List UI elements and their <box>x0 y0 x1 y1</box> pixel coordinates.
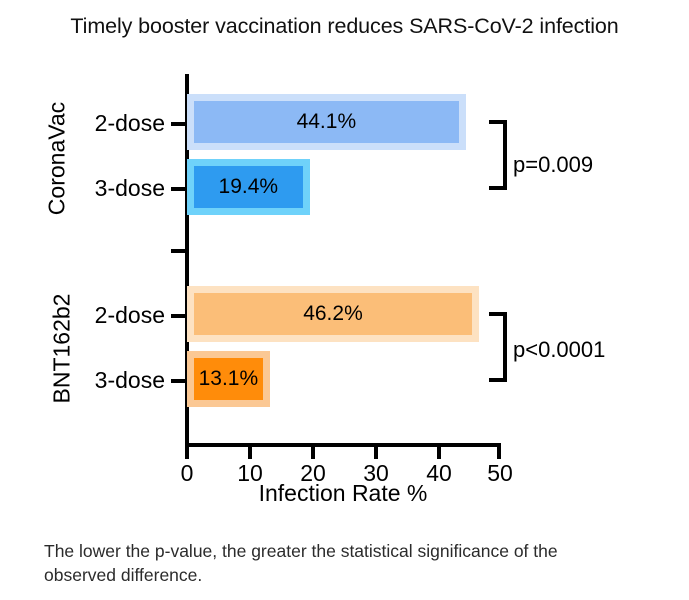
significance-bracket-coronavac <box>489 120 507 190</box>
x-tick-50 <box>497 446 501 459</box>
bar-value-coronavac-2dose: 44.1% <box>297 110 357 134</box>
p-value-label-coronavac: p=0.009 <box>513 152 593 178</box>
y-tick-bnt-2dose <box>171 314 185 318</box>
x-tick-20 <box>311 446 315 459</box>
group-label-bnt162b2: BNT162b2 <box>49 274 76 424</box>
bar-value-bnt162b2-2dose: 46.2% <box>303 302 363 326</box>
caption-text: The lower the p-value, the greater the s… <box>44 540 624 587</box>
y-tick-coronavac-3dose <box>171 187 185 191</box>
x-tick-30 <box>374 446 378 459</box>
category-label-coronavac-3dose: 3-dose <box>55 175 165 202</box>
category-label-bnt-3dose-wrap: 3-dose <box>50 367 165 391</box>
category-label-coronavac-2dose: 2-dose <box>55 110 165 137</box>
category-label-bnt162b2-2dose: 2-dose <box>55 302 165 329</box>
category-label-coronavac-3dose-wrap: 3-dose <box>50 175 165 199</box>
x-tick-0 <box>185 446 189 459</box>
x-tick-10 <box>248 446 252 459</box>
bar-bnt162b2-2dose[interactable]: 46.2% <box>187 286 479 342</box>
category-label-coronavac-2dose-wrap: 2-dose <box>50 110 165 134</box>
group-label-coronavac: CoronaVac <box>44 84 71 234</box>
x-tick-40 <box>437 446 441 459</box>
y-tick-separator <box>171 249 185 253</box>
bar-value-bnt162b2-3dose: 13.1% <box>199 367 259 391</box>
chart-plot-area: CoronaVac BNT162b2 2-dose 3-dose 2-dose … <box>0 0 689 520</box>
category-label-bnt-2dose-wrap: 2-dose <box>50 302 165 326</box>
bar-value-coronavac-3dose: 19.4% <box>219 175 279 199</box>
bar-coronavac-2dose[interactable]: 44.1% <box>187 94 466 150</box>
y-tick-coronavac-2dose <box>171 122 185 126</box>
x-axis-line <box>185 443 501 447</box>
x-axis-title: Infection Rate % <box>185 480 501 507</box>
bar-bnt162b2-3dose[interactable]: 13.1% <box>187 351 270 407</box>
y-tick-bnt-3dose <box>171 379 185 383</box>
significance-bracket-bnt162b2 <box>489 312 507 382</box>
bar-coronavac-3dose[interactable]: 19.4% <box>187 159 310 215</box>
p-value-label-bnt162b2: p<0.0001 <box>513 337 605 363</box>
category-label-bnt162b2-3dose: 3-dose <box>55 367 165 394</box>
